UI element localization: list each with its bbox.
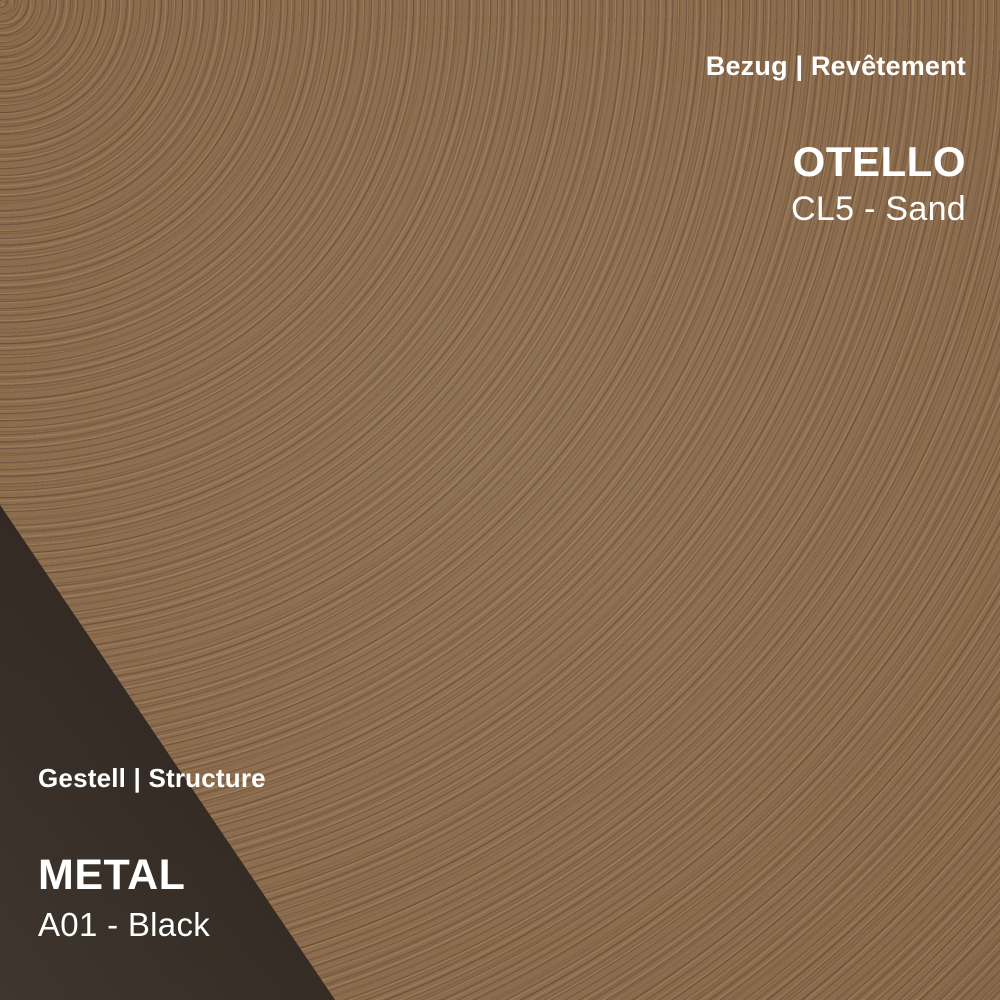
- frame-color-code: A01 - Black: [38, 906, 266, 944]
- frame-kicker: Gestell | Structure: [38, 764, 266, 793]
- material-swatch-card: Bezug | Revêtement OTELLO CL5 - Sand Ges…: [0, 0, 1000, 1000]
- frame-info-block: Gestell | Structure METAL A01 - Black: [38, 764, 266, 944]
- upholstery-kicker-de: Bezug: [706, 51, 788, 81]
- upholstery-info-block: Bezug | Revêtement OTELLO CL5 - Sand: [706, 52, 966, 229]
- upholstery-kicker-separator: |: [795, 51, 803, 81]
- upholstery-color-code: CL5 - Sand: [706, 190, 966, 229]
- upholstery-kicker-fr: Revêtement: [811, 51, 966, 81]
- upholstery-material-name: OTELLO: [706, 140, 966, 184]
- frame-kicker-fr: Structure: [148, 763, 265, 793]
- frame-kicker-de: Gestell: [38, 763, 126, 793]
- frame-material-name: METAL: [38, 853, 266, 898]
- frame-kicker-separator: |: [134, 763, 141, 793]
- upholstery-kicker: Bezug | Revêtement: [706, 52, 966, 82]
